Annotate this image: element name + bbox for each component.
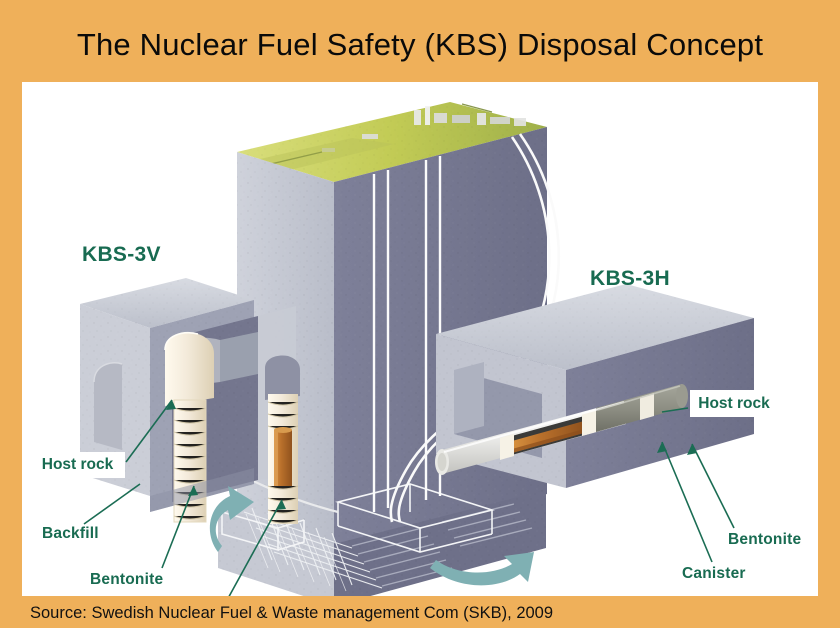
- slide-root: The Nuclear Fuel Safety (KBS) Disposal C…: [0, 0, 840, 628]
- kbs-disposal-diagram: [22, 82, 818, 596]
- label-kbs3h: KBS-3H: [590, 268, 670, 289]
- label-host-rock-right: Host rock: [690, 390, 778, 417]
- label-backfill: Backfill: [42, 526, 99, 542]
- source-caption: Source: Swedish Nuclear Fuel & Waste man…: [30, 600, 820, 626]
- label-bentonite-left: Bentonite: [90, 572, 163, 588]
- label-kbs3v: KBS-3V: [82, 244, 161, 265]
- label-canister-right: Canister: [682, 566, 746, 582]
- deposition-hole-2: [265, 356, 300, 525]
- figure-panel: KBS-3V KBS-3H Host rock Host rock Backfi…: [22, 82, 818, 596]
- label-bentonite-right: Bentonite: [728, 532, 801, 548]
- page-title: The Nuclear Fuel Safety (KBS) Disposal C…: [0, 22, 840, 68]
- label-host-rock-left: Host rock: [30, 452, 125, 478]
